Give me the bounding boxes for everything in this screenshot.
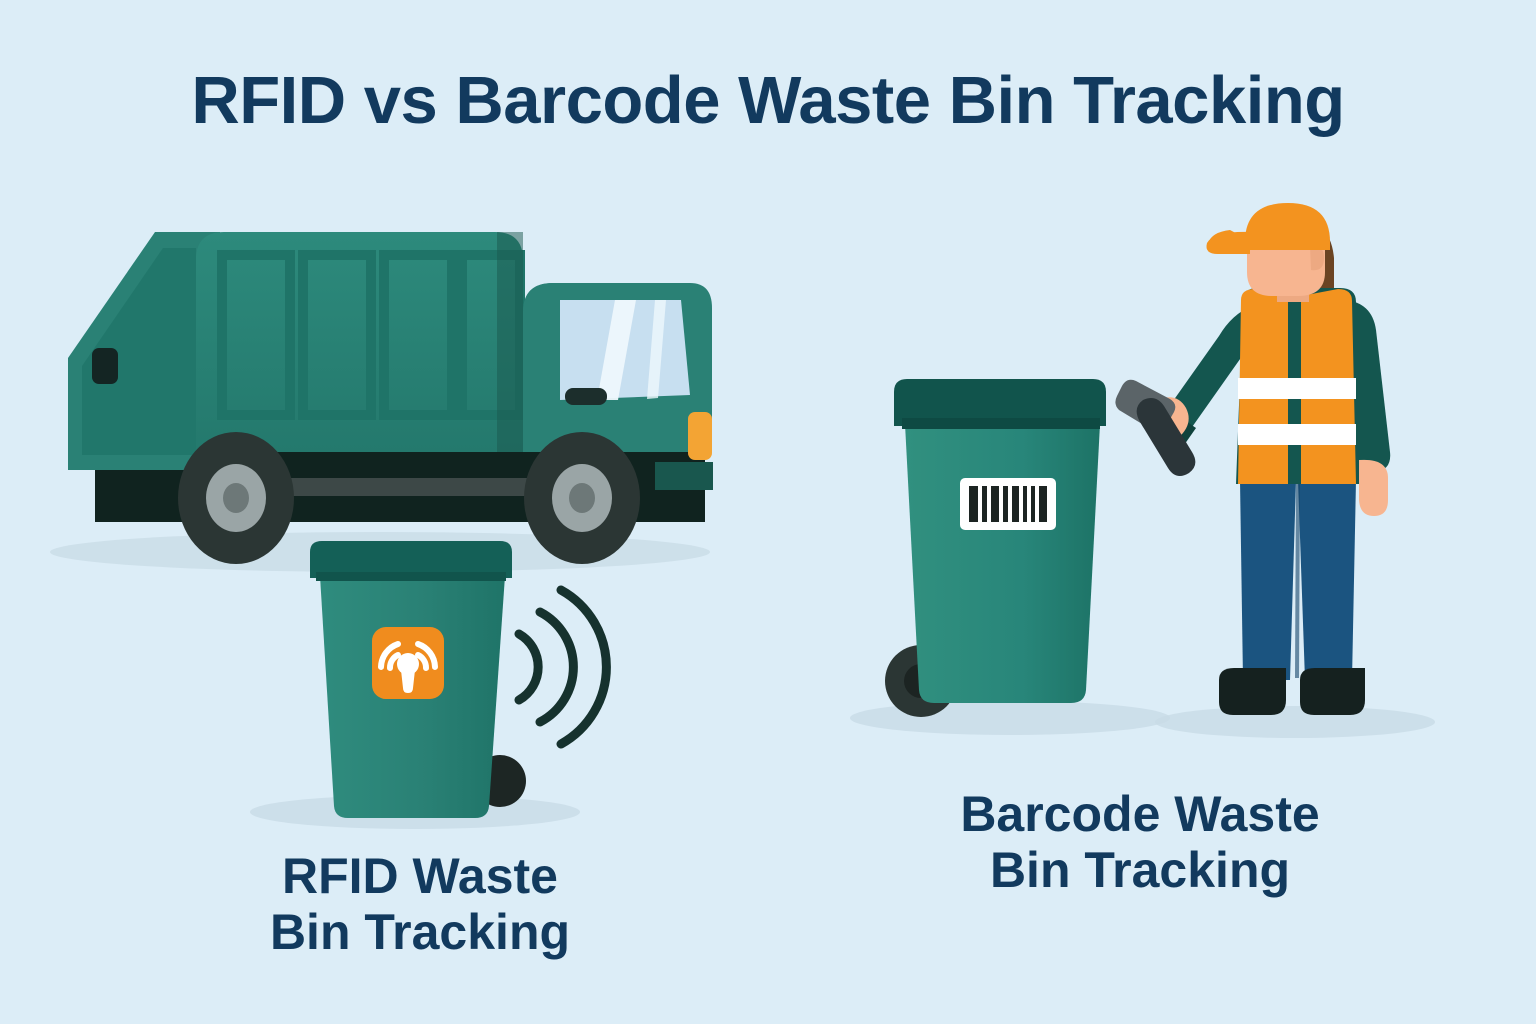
barcode-bin-lid-lip <box>902 418 1100 429</box>
truck-door-handle <box>565 388 607 405</box>
right-panel-caption: Barcode Waste Bin Tracking <box>830 786 1450 898</box>
left-caption-line-1: RFID Waste <box>120 848 720 904</box>
barcode-label <box>960 478 1056 530</box>
worker-left-leg <box>1240 480 1296 680</box>
garbage-truck <box>68 232 713 564</box>
page-title: RFID vs Barcode Waste Bin Tracking <box>0 62 1536 139</box>
infographic-canvas: RFID vs Barcode Waste Bin Tracking RFID … <box>0 0 1536 1024</box>
barcode-waste-bin <box>885 379 1106 717</box>
right-caption-line-2: Bin Tracking <box>830 842 1450 898</box>
worker-ground-shadow <box>1155 706 1435 738</box>
worker-right-leg <box>1298 480 1356 680</box>
truck-rear-wheel <box>178 432 294 564</box>
left-caption-line-2: Bin Tracking <box>120 904 720 960</box>
left-panel-caption: RFID Waste Bin Tracking <box>120 848 720 960</box>
worker-cap-brim-main <box>1206 232 1250 254</box>
barcode-bin-body <box>905 424 1100 703</box>
signal-arc-small <box>519 634 538 700</box>
rfid-tag <box>372 627 444 699</box>
worker-cap-crown <box>1245 203 1330 250</box>
worker-vest-stripe-lower <box>1238 424 1356 445</box>
signal-arc-medium <box>540 612 573 722</box>
worker-left-boot <box>1219 668 1286 715</box>
truck-body-shadow-edge <box>497 232 523 452</box>
worker-right-hand <box>1359 460 1388 516</box>
truck-rear-light <box>92 348 118 384</box>
right-caption-line-1: Barcode Waste <box>830 786 1450 842</box>
signal-arc-large <box>561 590 606 744</box>
rfid-waste-bin <box>310 541 526 818</box>
rfid-signal-waves <box>519 590 606 744</box>
truck-front-bumper <box>655 462 713 490</box>
truck-front-wheel <box>524 432 640 564</box>
truck-turn-indicator <box>688 412 712 460</box>
rfid-bin-lid-lip <box>316 572 506 581</box>
worker-leg-seam <box>1295 480 1300 678</box>
worker-vest-stripe-upper <box>1238 378 1356 399</box>
worker-right-boot <box>1300 668 1365 715</box>
